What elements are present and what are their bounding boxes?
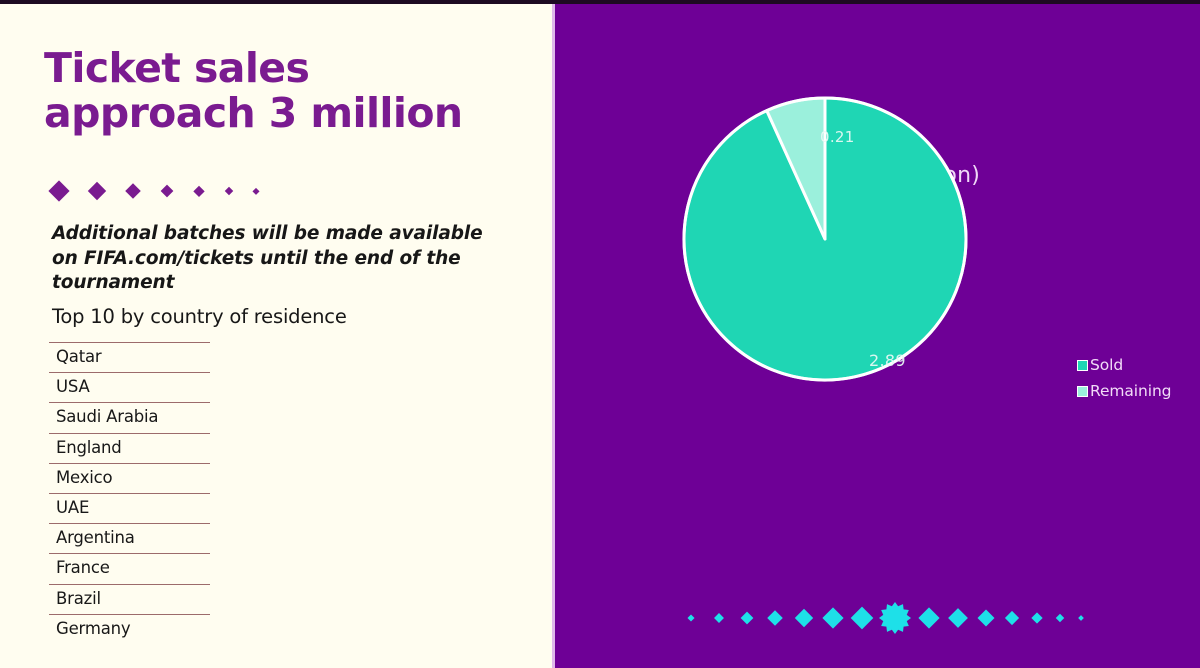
legend-label: Sold (1090, 356, 1123, 374)
list-subheading: Top 10 by country of residence (52, 304, 502, 329)
country-name: Argentina (56, 528, 135, 547)
country-name: Qatar (56, 347, 101, 366)
diamond-decoration-row (48, 178, 288, 204)
diamond-dot-icon[interactable] (795, 609, 813, 627)
legend-swatch-icon (1077, 360, 1088, 371)
chart-legend: SoldRemaining (1077, 352, 1197, 404)
legend-label: Remaining (1090, 382, 1171, 400)
diamond-icon (161, 185, 174, 198)
table-row[interactable]: Qatar (49, 342, 210, 372)
legend-swatch-icon (1077, 386, 1088, 397)
diamond-dot-icon[interactable] (714, 613, 724, 623)
table-row[interactable]: Germany (49, 614, 210, 644)
diamond-dot-icon[interactable] (687, 614, 694, 621)
page-title-line-1: Ticket sales (44, 46, 514, 91)
pie-chart-svg (679, 93, 971, 385)
pie-chart: 0.21 2.89 (679, 93, 971, 385)
diamond-dot-icon[interactable] (1005, 611, 1019, 625)
table-row[interactable]: UAE (49, 493, 210, 523)
top-countries-table: QatarUSASaudi ArabiaEnglandMexicoUAEArge… (49, 342, 210, 644)
diamond-dot-icon[interactable] (767, 610, 783, 626)
country-name: UAE (56, 498, 89, 517)
diamond-dot-icon[interactable] (741, 612, 754, 625)
diamond-dot-icon[interactable] (978, 610, 995, 627)
carousel-indicator-strip (685, 598, 1065, 638)
diamond-icon (48, 180, 69, 201)
diamond-dot-icon[interactable] (1056, 614, 1064, 622)
legend-item-sold[interactable]: Sold (1077, 352, 1197, 378)
diamond-dot-icon[interactable] (1078, 615, 1084, 621)
table-row[interactable]: Argentina (49, 523, 210, 553)
country-name: England (56, 438, 122, 457)
chart-panel: Tickets (in million) 0.21 2.89 SoldRemai… (555, 0, 1200, 668)
diamond-dot-icon[interactable] (851, 607, 874, 630)
page-title-line-2: approach 3 million (44, 91, 514, 136)
diamond-dot-icon[interactable] (918, 607, 939, 628)
table-row[interactable]: England (49, 433, 210, 463)
top-edge-bar (0, 0, 1200, 4)
country-name: Saudi Arabia (56, 407, 158, 426)
page-title: Ticket sales approach 3 million (44, 46, 514, 136)
country-name: France (56, 558, 110, 577)
table-row[interactable]: USA (49, 372, 210, 402)
diamond-dot-icon[interactable] (948, 608, 968, 628)
starburst-icon[interactable] (879, 602, 911, 634)
country-name: Brazil (56, 589, 101, 608)
slide: Ticket sales approach 3 million Addition… (0, 0, 1200, 668)
table-row[interactable]: France (49, 553, 210, 583)
country-name: Mexico (56, 468, 112, 487)
table-row[interactable]: Saudi Arabia (49, 402, 210, 432)
country-name: USA (56, 377, 90, 396)
diamond-dot-icon[interactable] (1031, 612, 1042, 623)
lede-paragraph: Additional batches will be made availabl… (52, 222, 502, 296)
diamond-icon (253, 188, 259, 194)
diamond-icon (88, 182, 106, 200)
country-name: Germany (56, 619, 130, 638)
table-row[interactable]: Mexico (49, 463, 210, 493)
diamond-icon (225, 187, 233, 195)
table-row[interactable]: Brazil (49, 584, 210, 614)
diamond-dot-icon[interactable] (822, 607, 843, 628)
diamond-icon (194, 186, 205, 197)
diamond-icon (125, 183, 141, 199)
left-content-panel: Ticket sales approach 3 million Addition… (0, 0, 552, 668)
panel-divider (552, 0, 555, 668)
legend-item-remaining[interactable]: Remaining (1077, 378, 1197, 404)
